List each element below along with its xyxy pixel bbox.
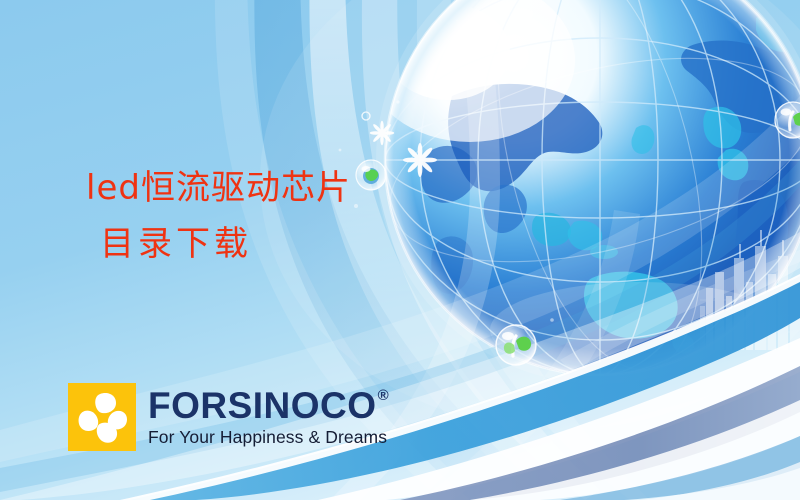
promo-banner: led恒流驱动芯片 目录下载 FORSINOCO ® For Your Happ… bbox=[0, 0, 800, 500]
bokeh-dots bbox=[339, 100, 554, 321]
bubble-globe-icon bbox=[356, 160, 386, 190]
flower-sparkle bbox=[362, 112, 437, 177]
logo-tagline: For Your Happiness & Dreams bbox=[148, 429, 389, 447]
bubble-sprout-icon bbox=[775, 102, 800, 138]
world-globe bbox=[330, 0, 800, 390]
headline-line-1: led恒流驱动芯片 bbox=[86, 160, 351, 216]
company-logo[interactable]: FORSINOCO ® For Your Happiness & Dreams bbox=[68, 383, 389, 451]
ribbon-bands bbox=[0, 232, 800, 500]
city-skyline bbox=[560, 230, 800, 372]
logo-text-block: FORSINOCO ® For Your Happiness & Dreams bbox=[148, 387, 389, 447]
forsinoco-logo-mark bbox=[68, 383, 136, 451]
pinwheel-petals-icon bbox=[68, 383, 136, 451]
logo-wordmark: FORSINOCO ® bbox=[148, 387, 389, 424]
headline-block: led恒流驱动芯片 目录下载 bbox=[86, 160, 351, 272]
registered-trademark-icon: ® bbox=[378, 388, 390, 403]
logo-wordmark-text: FORSINOCO bbox=[148, 387, 377, 424]
headline-line-2: 目录下载 bbox=[86, 216, 351, 272]
bubble-sprout-icon bbox=[496, 325, 536, 365]
